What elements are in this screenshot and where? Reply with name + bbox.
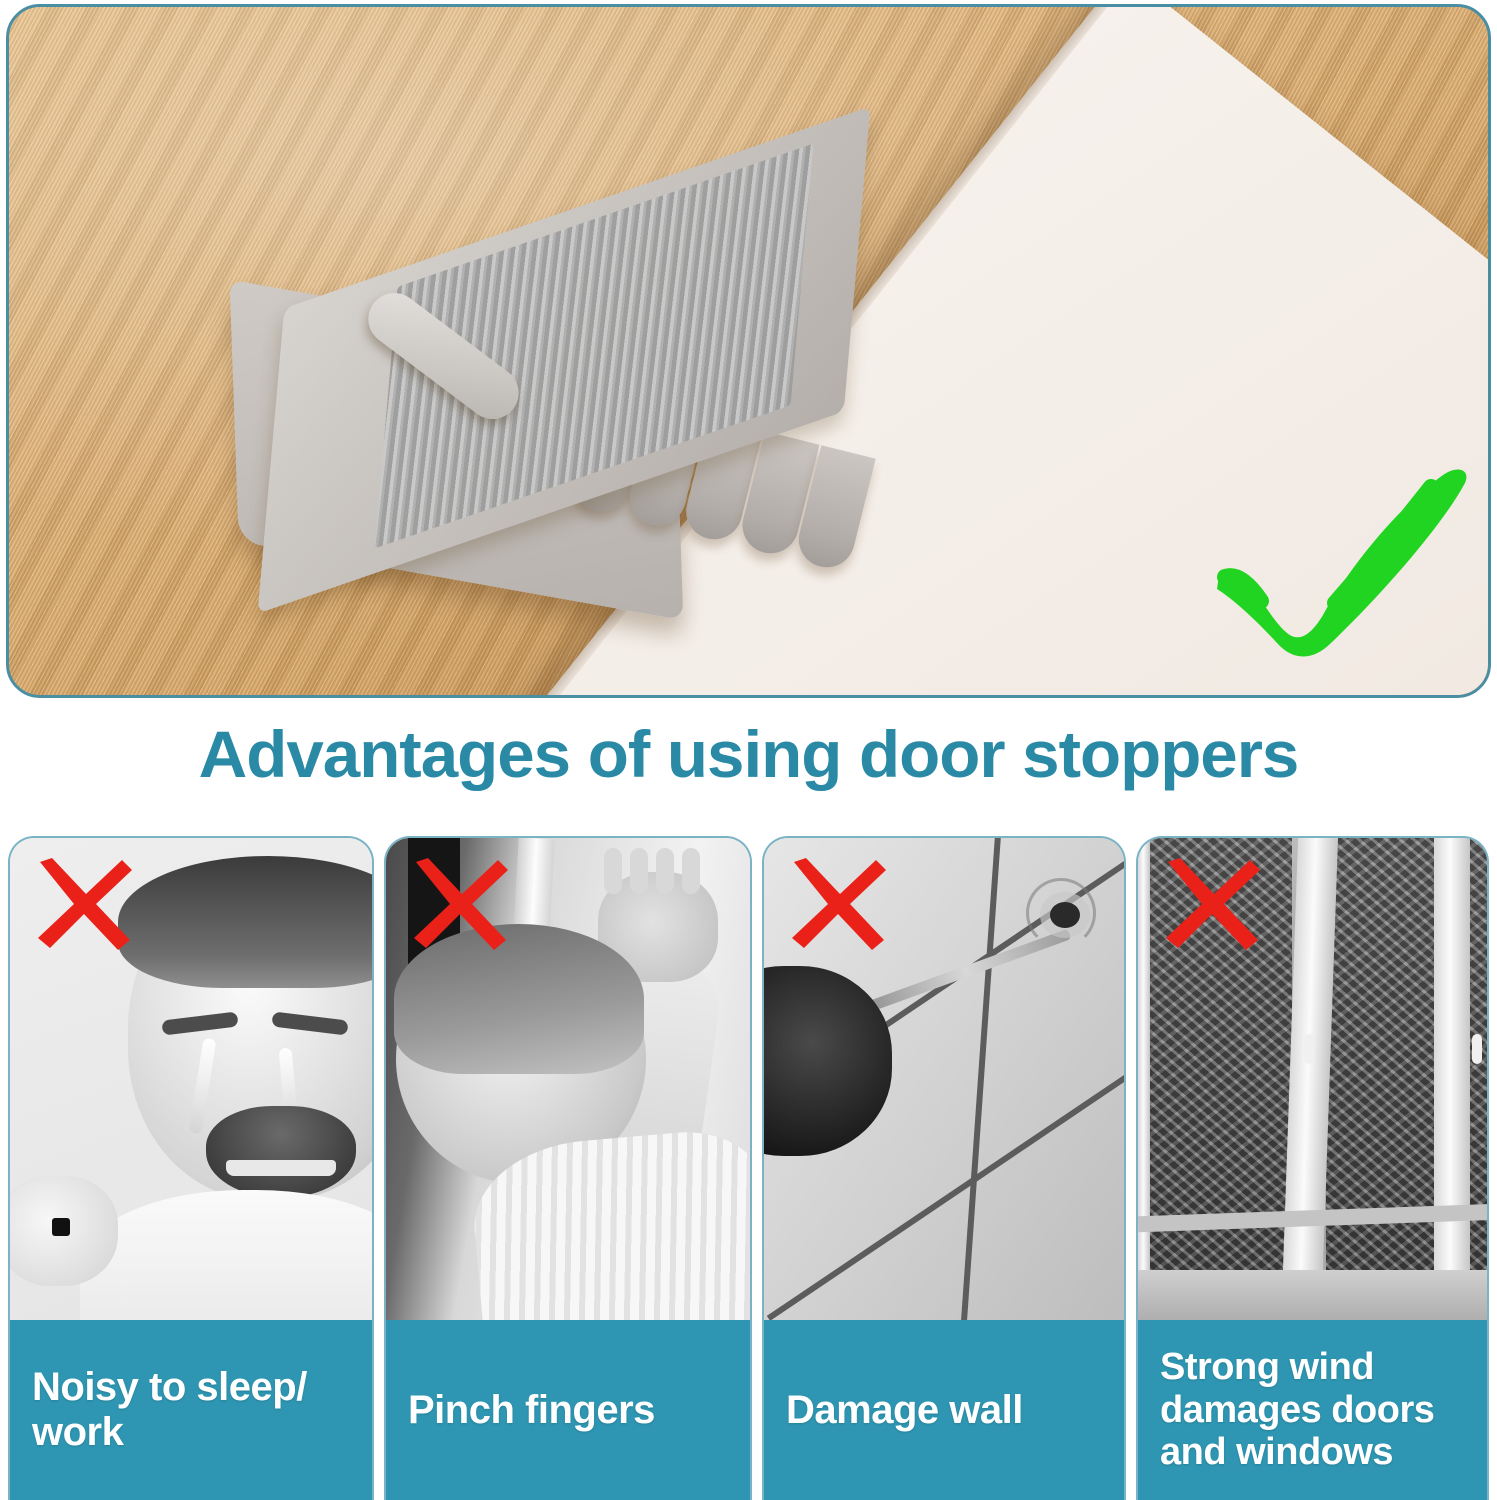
card-caption-damage-wall: Damage wall — [764, 1320, 1124, 1500]
card-caption-strong-wind: Strong wind damages doors and windows — [1138, 1320, 1487, 1500]
card-caption-noisy: Noisy to sleep/ work — [10, 1320, 372, 1500]
page-title: Advantages of using door stoppers — [0, 716, 1497, 792]
red-x-mark-icon — [404, 854, 516, 954]
red-x-mark-icon — [1156, 854, 1268, 954]
caption-text: Pinch fingers — [408, 1388, 655, 1433]
door-stopper-product — [224, 212, 914, 632]
card-pinch-fingers[interactable]: Pinch fingers — [384, 836, 752, 1500]
card-strong-wind[interactable]: Strong wind damages doors and windows — [1136, 836, 1489, 1500]
card-damage-wall[interactable]: Damage wall — [762, 836, 1126, 1500]
disadvantage-cards: Noisy to sleep/ work Pinch fingers — [0, 836, 1497, 1500]
card-noisy[interactable]: Noisy to sleep/ work — [8, 836, 374, 1500]
caption-text: Strong wind damages doors and windows — [1160, 1346, 1465, 1474]
green-check-mark-icon — [1195, 457, 1491, 667]
card-caption-pinch: Pinch fingers — [386, 1320, 750, 1500]
caption-text: Noisy to sleep/ work — [32, 1365, 350, 1455]
hero-product-panel — [6, 4, 1491, 698]
red-x-mark-icon — [28, 854, 140, 954]
caption-text: Damage wall — [786, 1388, 1023, 1433]
infographic-page: Advantages of using door stoppers Noisy … — [0, 0, 1497, 1500]
red-x-mark-icon — [782, 854, 894, 954]
